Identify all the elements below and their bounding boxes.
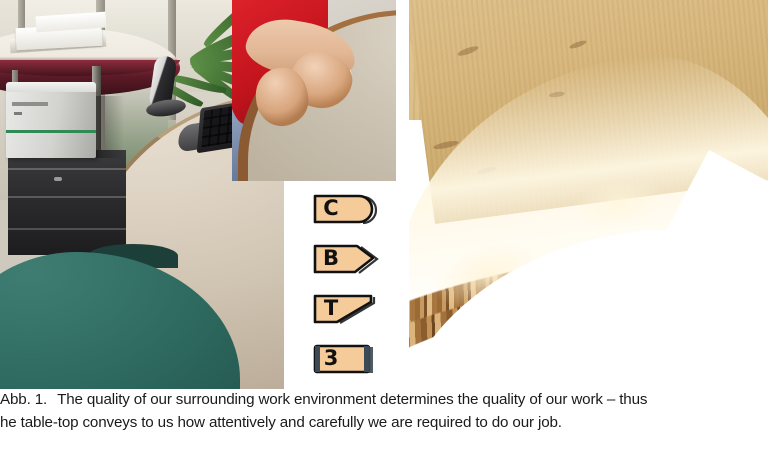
edge-profile-3-square[interactable]: 3 <box>311 343 397 375</box>
edge-profile-legend: C B T 3 <box>284 181 409 389</box>
cabinet-drawer-line-2 <box>8 196 126 198</box>
cabinet-drawer-line-3 <box>8 228 126 230</box>
figure-caption: Abb. 1.The quality of our surrounding wo… <box>0 389 768 462</box>
edge-profile-t-under-bevel[interactable]: T <box>311 293 397 325</box>
person-at-table-edge-photo <box>232 0 396 181</box>
cabinet-drawer-line-1 <box>8 168 126 170</box>
cabinet-drawer-handle <box>54 177 62 181</box>
computer-power-button <box>14 112 22 115</box>
figure-area: C B T 3 <box>0 0 768 389</box>
computer-tower <box>6 88 96 158</box>
figure-caption-line-2: he table-top conveys to us how attentive… <box>0 414 768 431</box>
pedestal-drawer-cabinet <box>8 150 126 255</box>
edge-profile-c-bullnose[interactable]: C <box>311 193 397 225</box>
edge-profile-b-double-bevel[interactable]: B <box>311 243 397 275</box>
figure-caption-line-1: Abb. 1.The quality of our surrounding wo… <box>0 391 768 408</box>
computer-tower-shadow <box>96 96 124 158</box>
figure-caption-label: Abb. 1. <box>0 391 47 408</box>
computer-green-stripe <box>6 130 96 133</box>
computer-tower-top <box>6 82 96 92</box>
figure-caption-text-1: The quality of our surrounding work envi… <box>57 391 647 408</box>
bamboo-tabletop-edge-photo <box>409 0 768 371</box>
computer-drive-slot <box>12 102 48 106</box>
